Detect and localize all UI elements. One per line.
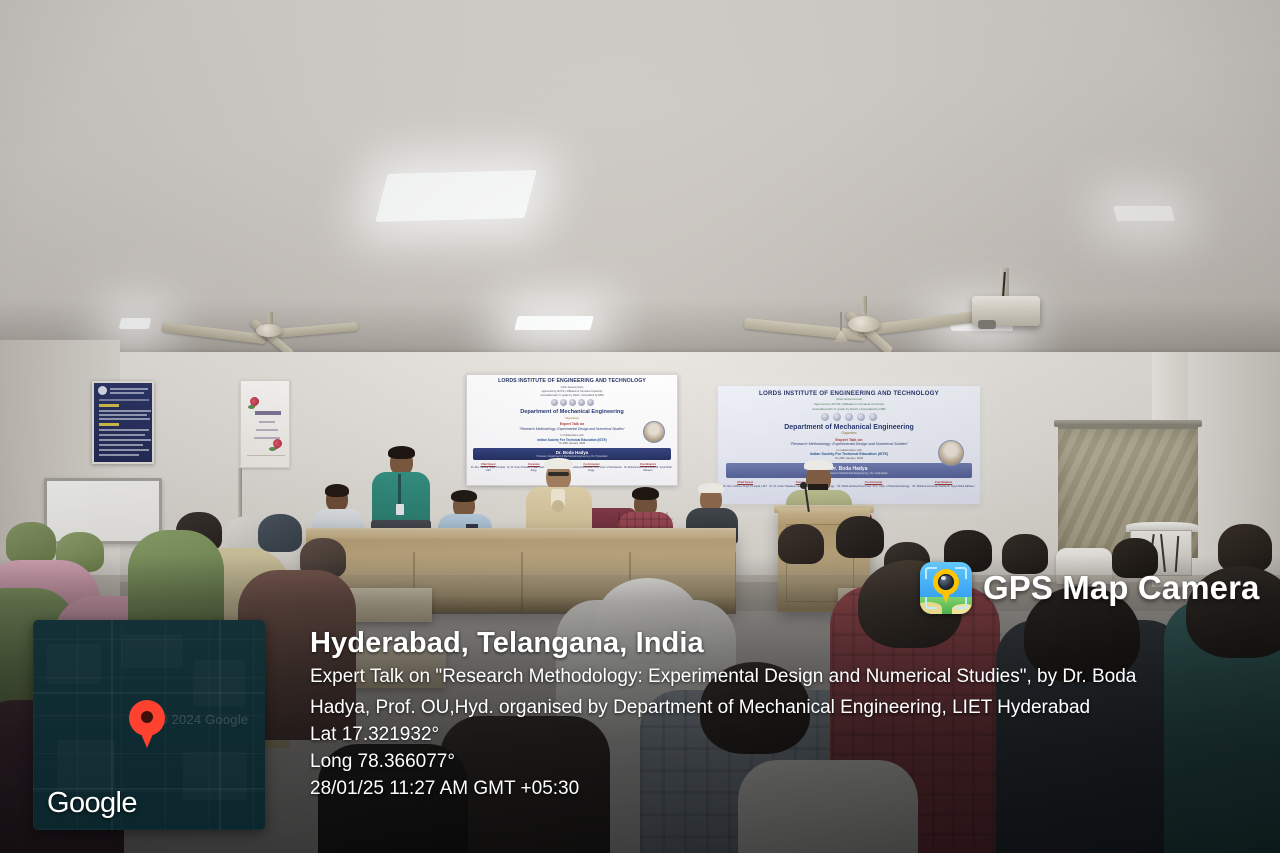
map-block — [121, 634, 183, 668]
map-block — [47, 644, 101, 684]
google-logo: Google — [47, 787, 137, 820]
notice-poster — [92, 381, 154, 464]
banner-approval: (UGC Autonomous) — [467, 386, 677, 389]
banner-affiliation: Approved by AICTE | Affiliated to Osmani… — [467, 390, 677, 393]
map-thumbnail[interactable]: © 2024 Google Google — [33, 620, 265, 830]
screen-speaker-bar: Dr. Boda Hadya Professor, Department of … — [726, 463, 972, 478]
banner-organises: Organises — [467, 416, 677, 420]
map-pin-icon — [129, 700, 165, 748]
screen-names: Dr. Rev. Kishore Singh Principal, LIET — [723, 485, 767, 488]
banner-logos — [467, 399, 677, 406]
ceiling-light-panel — [119, 318, 151, 329]
longitude-value: Long 78.366077° — [310, 749, 1240, 776]
banner-speaker-photo — [643, 421, 665, 443]
banner-department: Department of Mechanical Engineering — [467, 409, 677, 415]
banner-names: Mr. Mohammed Azhar Pasha Mr. Syed Abdul … — [624, 466, 672, 472]
banner-speaker-title: Professor, Department of Mechanical Engi… — [473, 455, 671, 458]
ceiling-light-panel — [375, 170, 537, 222]
screen-speaker-title: Professor, Department of Mechanical Engi… — [726, 472, 972, 475]
gps-map-camera-watermark: GPS Map Camera — [920, 562, 1260, 614]
ceiling-light-panel — [1113, 206, 1175, 221]
screen-organises: Organises — [718, 431, 980, 435]
banner-speaker-bar: Dr. Boda Hadya Professor, Department of … — [473, 448, 671, 460]
location-title: Hyderabad, Telangana, India — [310, 627, 1240, 660]
pendant-light-wire — [840, 312, 842, 332]
timestamp-value: 28/01/25 11:27 AM GMT +05:30 — [310, 776, 1240, 803]
banner-institute: LORDS INSTITUTE OF ENGINEERING AND TECHN… — [467, 379, 677, 385]
location-info-block: Hyderabad, Telangana, India Expert Talk … — [310, 627, 1240, 803]
banner-accreditation: Accredited with 'A' grade by NAAC | Accr… — [467, 394, 677, 397]
screen-names: Mr. Mohammed Azhar Pasha Mr. Syed Abdul … — [913, 485, 975, 488]
ceiling-light-panel — [514, 316, 593, 330]
location-description-line-1: Expert Talk on "Research Methodology: Ex… — [310, 664, 1240, 691]
screen-names: Mr. Mohd Ashfaq Ahmed Asst. Prof., Dept.… — [837, 485, 910, 488]
banner-event-date: On 28th January, 2025 — [467, 442, 677, 445]
latitude-value: Lat 17.321932° — [310, 722, 1240, 749]
map-attribution: © 2024 Google — [158, 712, 248, 727]
screen-institute: LORDS INSTITUTE OF ENGINEERING AND TECHN… — [718, 390, 980, 397]
screen-logos — [718, 413, 980, 421]
projection-screen: LORDS INSTITUTE OF ENGINEERING AND TECHN… — [718, 386, 980, 504]
map-road — [33, 692, 265, 694]
screen-footer: Chief GuestDr. Rev. Kishore Singh Princi… — [718, 481, 980, 488]
decorative-poster — [240, 380, 290, 468]
screen-affiliation: Approved by AICTE | Affiliated to Osmani… — [718, 403, 980, 407]
microphone-icon — [800, 482, 807, 489]
screen-accreditation: Accredited with 'A' grade by NAAC | Accr… — [718, 408, 980, 412]
map-block — [183, 752, 247, 800]
watermark-label: GPS Map Camera — [983, 569, 1260, 607]
screen-speaker-photo — [938, 440, 964, 466]
projector-lens — [978, 320, 996, 329]
map-block — [57, 740, 115, 790]
banner-names: Dr. Rev. Kishore Singh Principal, LIET — [471, 466, 506, 472]
photograph: LORDS INSTITUTE OF ENGINEERING AND TECHN… — [0, 0, 1280, 853]
event-banner: LORDS INSTITUTE OF ENGINEERING AND TECHN… — [466, 374, 678, 486]
location-description-line-2: Hadya, Prof. OU,Hyd. organised by Depart… — [310, 695, 1240, 722]
gps-map-camera-icon — [920, 562, 972, 614]
screen-department: Department of Mechanical Engineering — [718, 424, 980, 431]
